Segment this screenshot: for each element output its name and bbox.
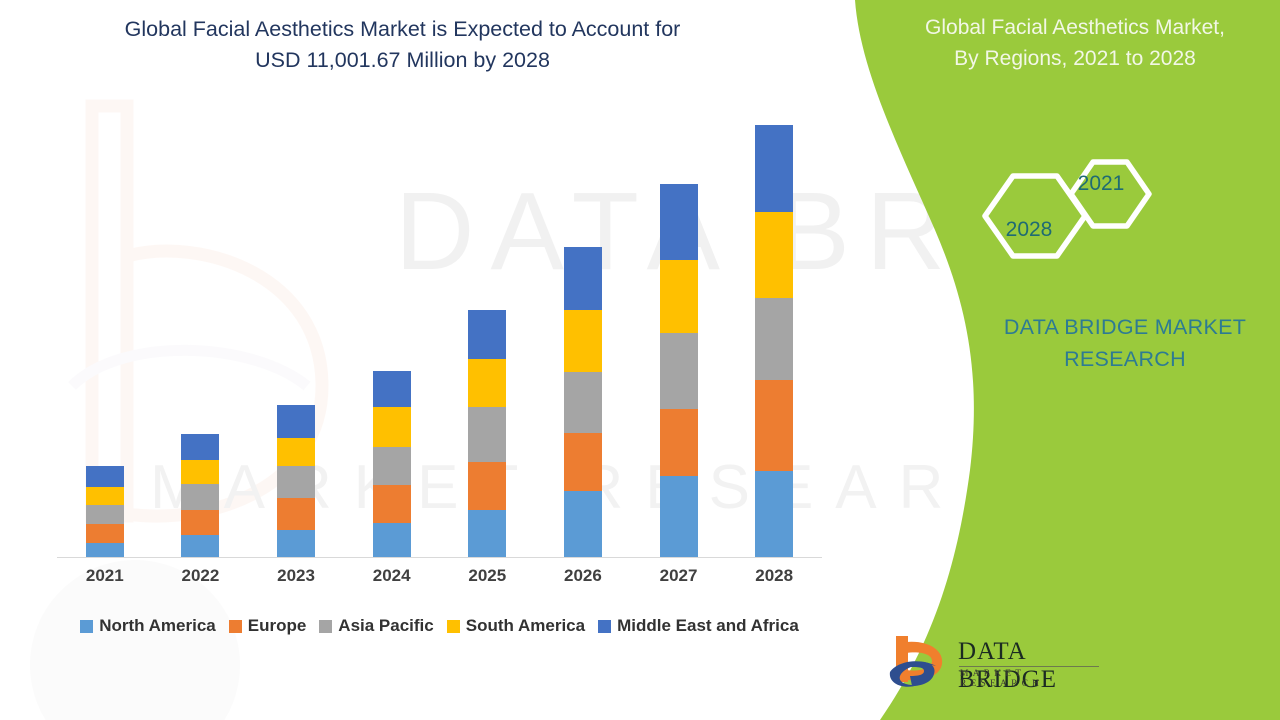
bar-segment bbox=[277, 405, 315, 438]
bar-segment bbox=[86, 505, 124, 524]
hexagon-label-2028: 2028 bbox=[975, 218, 1083, 242]
panel-title: Global Facial Aesthetics Market, By Regi… bbox=[885, 12, 1265, 74]
bar-segment bbox=[373, 447, 411, 486]
hexagon-label-2021: 2021 bbox=[1053, 172, 1149, 196]
legend-item[interactable]: Asia Pacific bbox=[319, 616, 433, 636]
legend-swatch-icon bbox=[229, 620, 242, 633]
bar-segment bbox=[373, 371, 411, 407]
legend-item[interactable]: South America bbox=[447, 616, 585, 636]
bar-2025 bbox=[468, 310, 506, 558]
x-axis-line bbox=[57, 557, 822, 558]
x-axis-label-2023: 2023 bbox=[251, 566, 341, 586]
x-axis-label-2021: 2021 bbox=[60, 566, 150, 586]
stacked-bar-chart: 20212022202320242025202620272028 North A… bbox=[0, 0, 860, 720]
bar-2021 bbox=[86, 466, 124, 558]
x-axis-label-2027: 2027 bbox=[634, 566, 724, 586]
bar-segment bbox=[373, 485, 411, 522]
legend-swatch-icon bbox=[598, 620, 611, 633]
chart-legend: North AmericaEuropeAsia PacificSouth Ame… bbox=[57, 616, 822, 636]
bar-segment bbox=[468, 310, 506, 359]
bar-segment bbox=[86, 543, 124, 558]
x-axis-label-2026: 2026 bbox=[538, 566, 628, 586]
bar-segment bbox=[660, 184, 698, 260]
bar-segment bbox=[660, 333, 698, 409]
bar-segment bbox=[468, 359, 506, 407]
brand-name-line1: DATA BRIDGE MARKET bbox=[960, 311, 1280, 343]
bar-2024 bbox=[373, 371, 411, 558]
bar-segment bbox=[468, 510, 506, 558]
legend-label: North America bbox=[99, 616, 216, 636]
data-bridge-logo-icon bbox=[888, 632, 952, 694]
x-axis-label-2028: 2028 bbox=[729, 566, 819, 586]
bar-segment bbox=[755, 212, 793, 299]
logo-divider bbox=[959, 666, 1099, 667]
legend-item[interactable]: Middle East and Africa bbox=[598, 616, 799, 636]
bar-segment bbox=[660, 476, 698, 558]
bar-segment bbox=[373, 523, 411, 558]
bar-segment bbox=[755, 471, 793, 558]
x-axis-label-2024: 2024 bbox=[347, 566, 437, 586]
legend-label: Asia Pacific bbox=[338, 616, 433, 636]
bar-segment bbox=[564, 433, 602, 492]
legend-item[interactable]: North America bbox=[80, 616, 216, 636]
bar-segment bbox=[373, 407, 411, 447]
bar-segment bbox=[181, 434, 219, 460]
bar-segment bbox=[564, 247, 602, 310]
chart-plot-area bbox=[57, 90, 822, 558]
bar-segment bbox=[181, 460, 219, 485]
bar-segment bbox=[755, 380, 793, 471]
bar-segment bbox=[660, 260, 698, 334]
brand-name: DATA BRIDGE MARKET RESEARCH bbox=[960, 311, 1280, 375]
infographic-root: DATA BRIDGE MARKET RESEARCH Global Facia… bbox=[0, 0, 1280, 720]
bar-segment bbox=[564, 372, 602, 433]
bar-segment bbox=[277, 530, 315, 558]
legend-swatch-icon bbox=[447, 620, 460, 633]
bar-2028 bbox=[755, 125, 793, 558]
x-axis-label-2025: 2025 bbox=[442, 566, 532, 586]
bar-2026 bbox=[564, 247, 602, 558]
company-logo: DATA BRIDGE MARKET RESEARCH bbox=[888, 632, 1108, 704]
bar-segment bbox=[277, 466, 315, 499]
bar-segment bbox=[86, 524, 124, 543]
logo-tagline: MARKET RESEARCH bbox=[960, 669, 1108, 689]
bar-segment bbox=[181, 535, 219, 558]
bar-segment bbox=[755, 125, 793, 212]
legend-swatch-icon bbox=[80, 620, 93, 633]
panel-title-line2: By Regions, 2021 to 2028 bbox=[885, 43, 1265, 74]
bar-segment bbox=[660, 409, 698, 476]
bar-segment bbox=[564, 310, 602, 372]
x-axis-label-2022: 2022 bbox=[155, 566, 245, 586]
hexagon-outlines-icon bbox=[975, 150, 1205, 280]
hexagon-group: 2021 2028 bbox=[975, 150, 1205, 280]
legend-label: Middle East and Africa bbox=[617, 616, 799, 636]
bar-2027 bbox=[660, 184, 698, 558]
brand-name-line2: RESEARCH bbox=[960, 343, 1280, 375]
legend-swatch-icon bbox=[319, 620, 332, 633]
bar-segment bbox=[181, 484, 219, 510]
bar-segment bbox=[277, 498, 315, 530]
bar-segment bbox=[468, 462, 506, 510]
bar-2023 bbox=[277, 405, 315, 558]
bar-2022 bbox=[181, 434, 219, 558]
bar-segment bbox=[86, 487, 124, 506]
panel-title-line1: Global Facial Aesthetics Market, bbox=[885, 12, 1265, 43]
bar-segment bbox=[181, 510, 219, 535]
bar-segment bbox=[277, 438, 315, 466]
bar-segment bbox=[755, 298, 793, 380]
legend-label: Europe bbox=[248, 616, 307, 636]
bar-segment bbox=[564, 491, 602, 558]
bar-segment bbox=[468, 407, 506, 462]
bar-segment bbox=[86, 466, 124, 487]
legend-item[interactable]: Europe bbox=[229, 616, 307, 636]
x-axis-labels: 20212022202320242025202620272028 bbox=[57, 566, 822, 596]
legend-label: South America bbox=[466, 616, 585, 636]
